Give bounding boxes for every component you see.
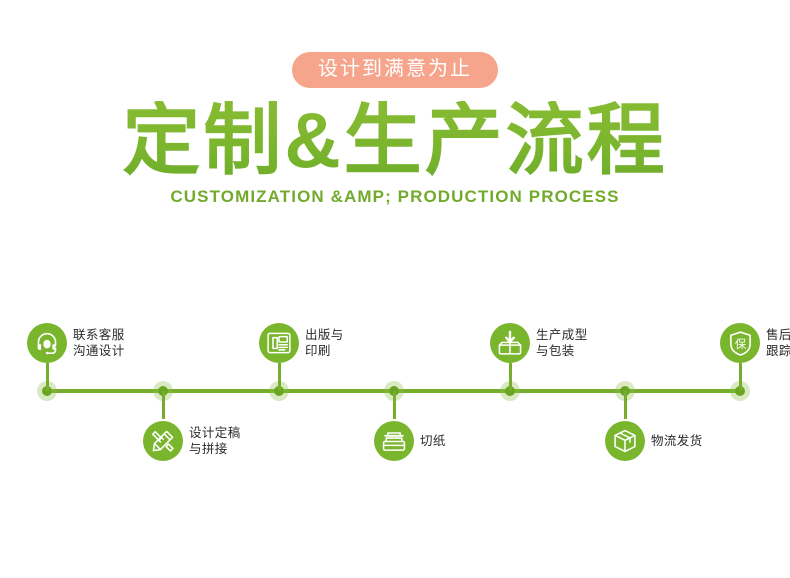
- timeline-connector: [624, 391, 627, 419]
- label-line-2: 与拼接: [189, 441, 241, 457]
- label-line-2: 沟通设计: [73, 343, 125, 359]
- label-line-1: 设计定稿: [189, 425, 241, 441]
- timeline-step-label: 生产成型与包装: [536, 327, 588, 359]
- printer-icon: [266, 330, 292, 356]
- warranty-shield-icon: 保: [727, 330, 754, 357]
- timeline-step-label: 联系客服沟通设计: [73, 327, 125, 359]
- process-timeline: 联系客服沟通设计 设计定稿与拼接 出版与印刷 切纸: [0, 0, 790, 578]
- label-line-2: 与包装: [536, 343, 588, 359]
- label-line-1: 联系客服: [73, 327, 125, 343]
- label-line-2: 印刷: [305, 343, 344, 359]
- headset-icon: [34, 330, 60, 356]
- timeline-connector: [393, 391, 396, 419]
- label-line-1: 出版与: [305, 327, 344, 343]
- package-box-icon-bubble[interactable]: [490, 323, 530, 363]
- label-line-1: 物流发货: [651, 433, 703, 449]
- timeline-connector: [162, 391, 165, 419]
- timeline-step-label: 出版与印刷: [305, 327, 344, 359]
- timeline-connector: [46, 363, 49, 391]
- label-line-1: 切纸: [420, 433, 446, 449]
- label-line-2: 跟踪: [766, 343, 790, 359]
- pencil-ruler-icon: [150, 428, 176, 454]
- package-box-icon: [497, 330, 523, 356]
- svg-text:保: 保: [734, 336, 746, 350]
- printer-icon-bubble[interactable]: [259, 323, 299, 363]
- timeline-step-label: 切纸: [420, 433, 446, 449]
- label-line-1: 售后服务: [766, 327, 790, 343]
- timeline-step-label: 物流发货: [651, 433, 703, 449]
- warranty-shield-icon-bubble[interactable]: 保: [720, 323, 760, 363]
- label-line-1: 生产成型: [536, 327, 588, 343]
- timeline-connector: [509, 363, 512, 391]
- paper-cutter-icon: [381, 428, 407, 454]
- headset-icon-bubble[interactable]: [27, 323, 67, 363]
- customization-production-process-page: 设计到满意为止 定制&生产流程 CUSTOMIZATION &AMP; PROD…: [0, 0, 790, 578]
- pencil-ruler-icon-bubble[interactable]: [143, 421, 183, 461]
- shipping-box-icon: [612, 428, 638, 454]
- timeline-step-label: 设计定稿与拼接: [189, 425, 241, 457]
- paper-cutter-icon-bubble[interactable]: [374, 421, 414, 461]
- timeline-connector: [278, 363, 281, 391]
- timeline-connector: [739, 363, 742, 391]
- timeline-step-label: 售后服务跟踪: [766, 327, 790, 359]
- shipping-box-icon-bubble[interactable]: [605, 421, 645, 461]
